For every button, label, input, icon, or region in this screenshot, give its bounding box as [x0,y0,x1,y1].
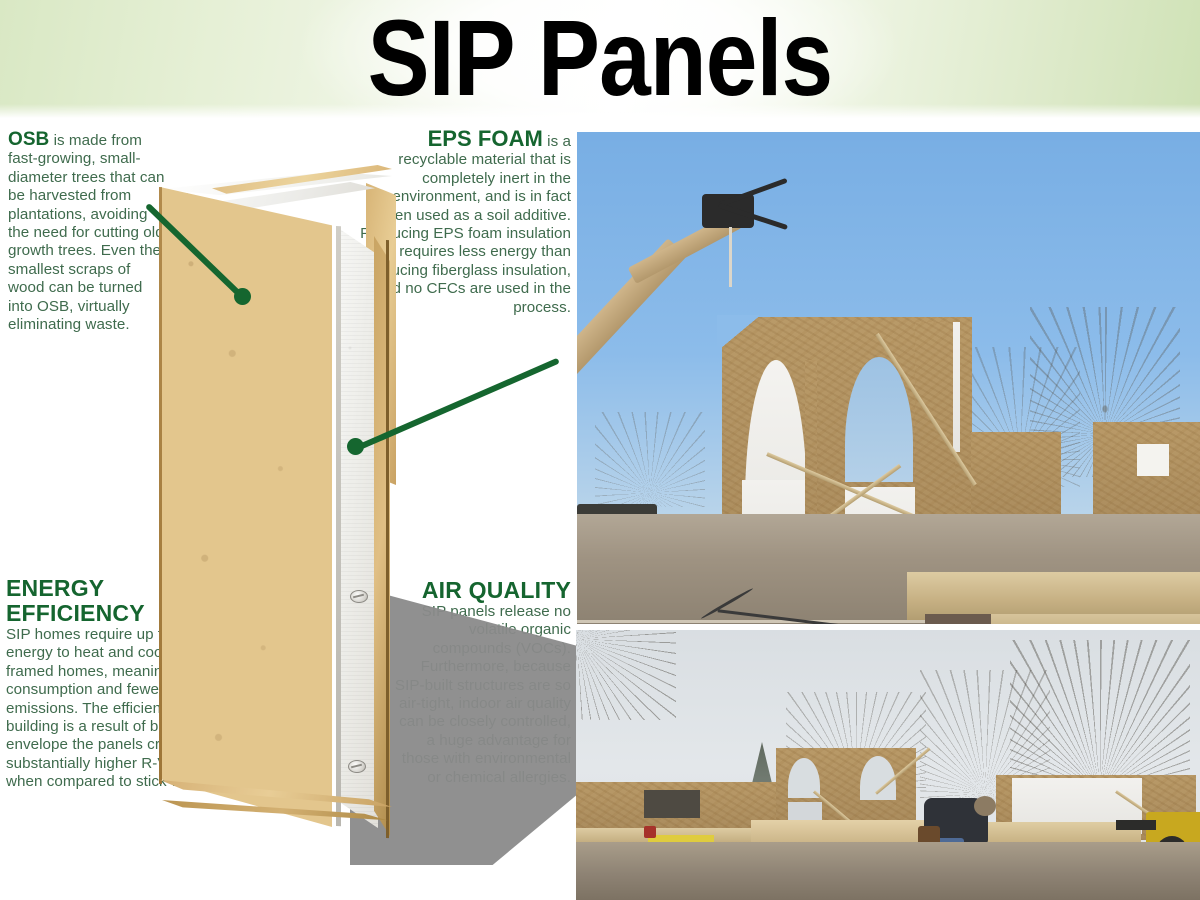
sip-wall-return-edge [953,322,960,452]
osb-outer-skin-edge-line [386,240,389,838]
callout-osb-text: OSB is made from fast-growing, small-dia… [8,131,171,334]
callout-osb-body: fast-growing, small-diameter trees that … [8,150,169,333]
photo-construction-site-lumber-worker [576,630,1200,900]
photo2-ground [576,842,1200,900]
sip-wall-far-right-window [1137,444,1169,476]
tree-left-1 [595,412,705,507]
photo2-loader-arm [1116,820,1156,830]
slab-line-1 [577,620,937,623]
sip-panel-diagram [150,160,570,860]
callout-osb-leadin: is made from [49,132,142,149]
photo2-wall-left-opening [644,790,700,818]
crane-hoist-cable [729,227,732,287]
slide-root: SIP Panels OSB is made from fast-growing… [0,0,1200,900]
foreground-beam-stack [907,572,1200,620]
eps-foam-left-line [336,226,341,826]
osb-front-left-edge [159,187,162,784]
panel-screw-2 [348,760,366,773]
callout-eps-heading: EPS FOAM [428,126,543,151]
eps-foam-core [338,228,378,828]
callout-osb: OSB is made from fast-growing, small-dia… [8,131,171,334]
panel-screw-1 [350,590,368,603]
photo-construction-crane-sip-wall [577,132,1200,624]
photo2-wall-center-window [788,802,822,820]
callout-osb-heading: OSB [8,129,49,150]
photo2-red-marker [644,826,656,838]
page-title: SIP Panels [84,0,1116,120]
osb-front-skin [160,187,332,827]
photo2-tree-left [576,630,676,720]
photo2-worker-head [974,796,996,816]
eps-leader-dot [347,438,364,455]
osb-leader-dot [234,288,251,305]
foreground-dark-box [925,614,991,624]
slide-header: SIP Panels [0,0,1200,120]
sip-wall-corner-cut [717,315,759,350]
callout-eps-leadin: is a [543,133,571,150]
